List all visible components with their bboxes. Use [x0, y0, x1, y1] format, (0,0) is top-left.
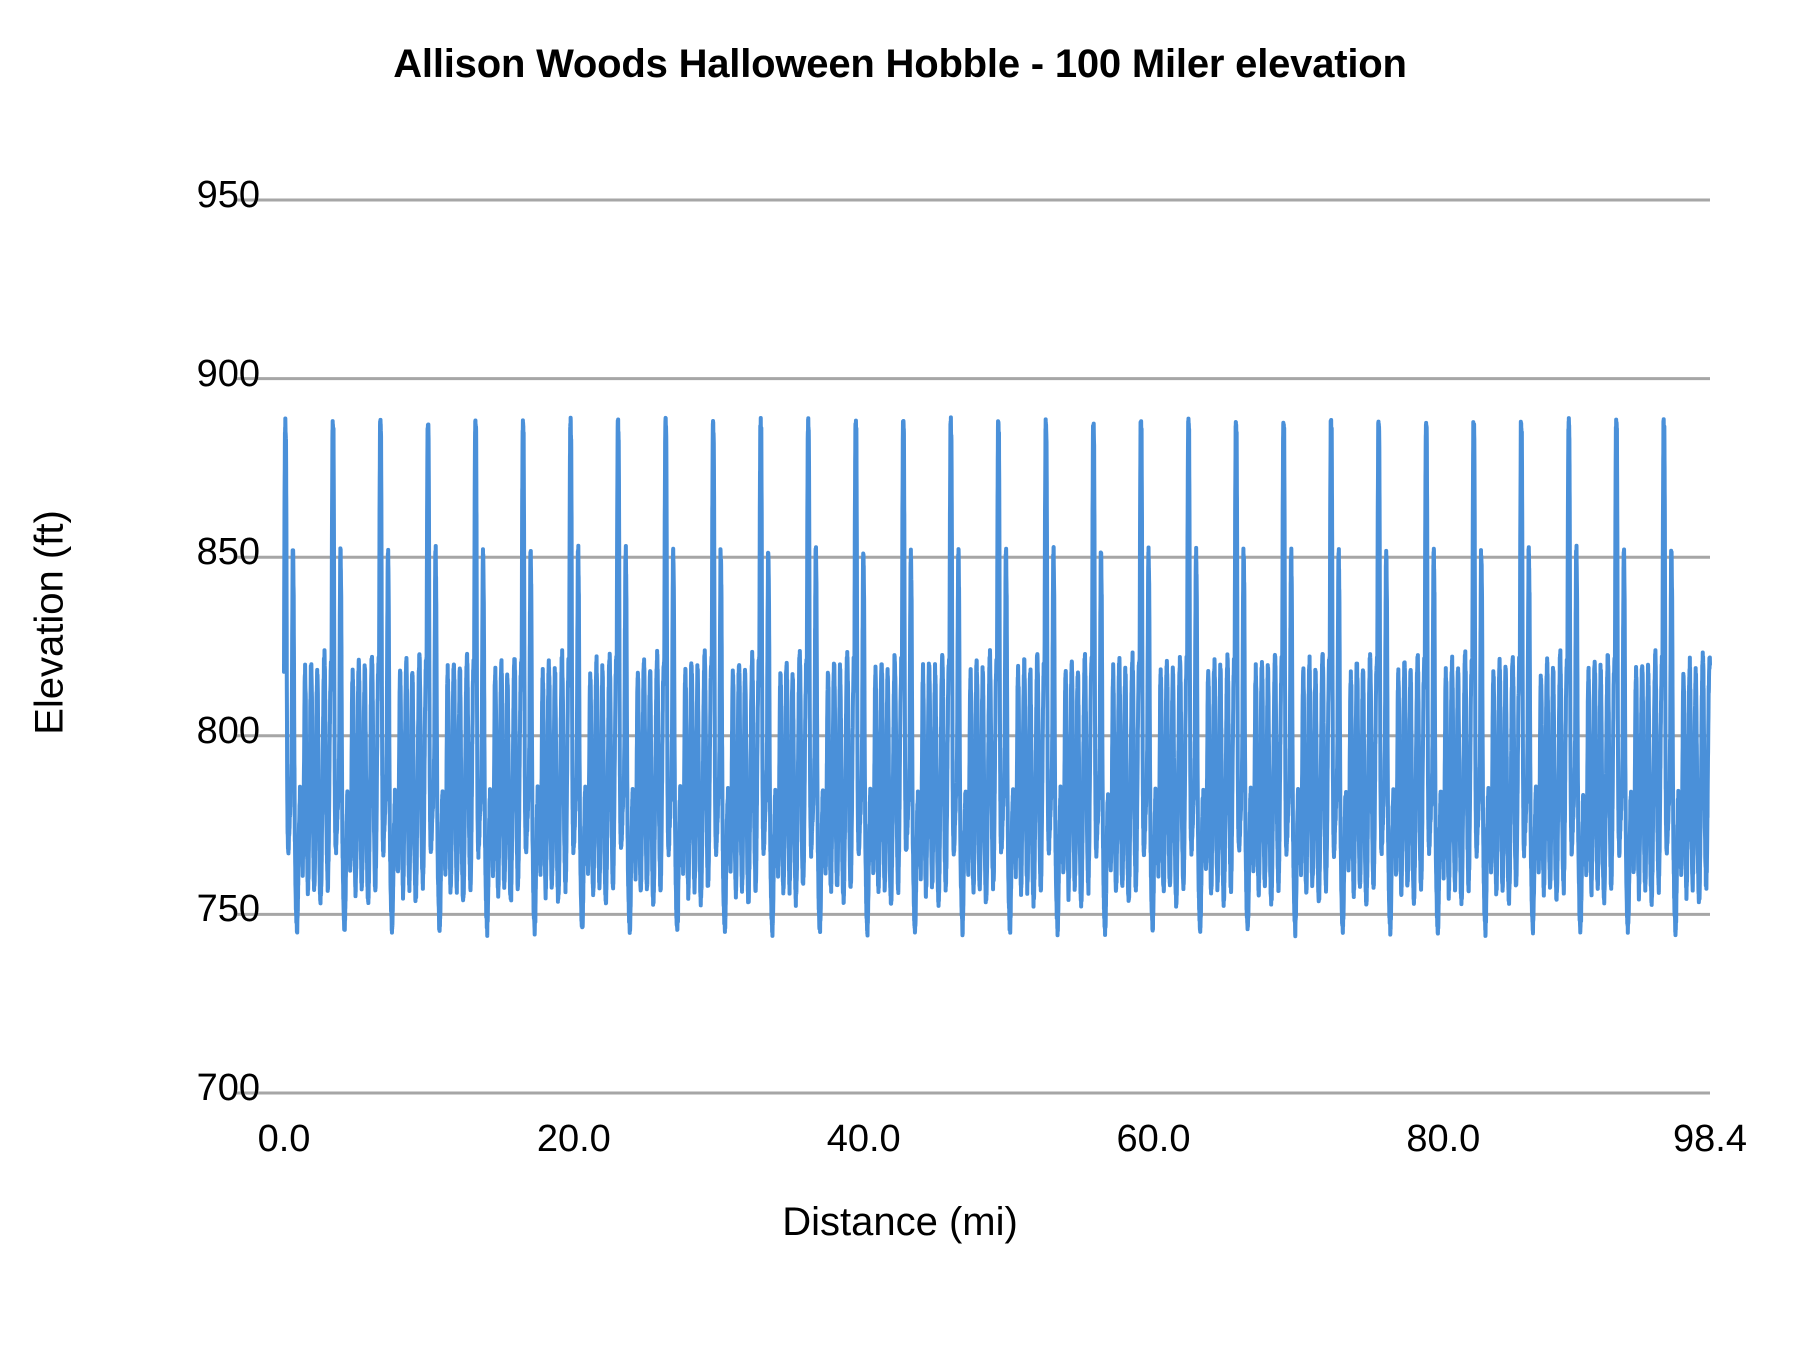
x-tick-label: 80.0	[1323, 1118, 1563, 1161]
x-tick-label: 0.0	[164, 1118, 404, 1161]
y-tick-label: 700	[60, 1067, 260, 1110]
elevation-chart: Allison Woods Halloween Hobble - 100 Mil…	[0, 0, 1800, 1350]
x-tick-label: 40.0	[744, 1118, 984, 1161]
y-tick-label: 900	[60, 353, 260, 396]
x-tick-label: 20.0	[454, 1118, 694, 1161]
x-axis-title: Distance (mi)	[0, 1200, 1800, 1245]
y-tick-label: 850	[60, 531, 260, 574]
gridlines	[234, 200, 1710, 1093]
x-tick-label: 60.0	[1034, 1118, 1274, 1161]
series-group	[284, 417, 1710, 936]
y-tick-label: 800	[60, 710, 260, 753]
y-tick-label: 950	[60, 174, 260, 217]
y-tick-label: 750	[60, 888, 260, 931]
y-axis-title: Elevation (ft)	[28, 423, 73, 823]
elevation-line	[284, 417, 1710, 936]
x-tick-label: 98.4	[1590, 1118, 1800, 1161]
